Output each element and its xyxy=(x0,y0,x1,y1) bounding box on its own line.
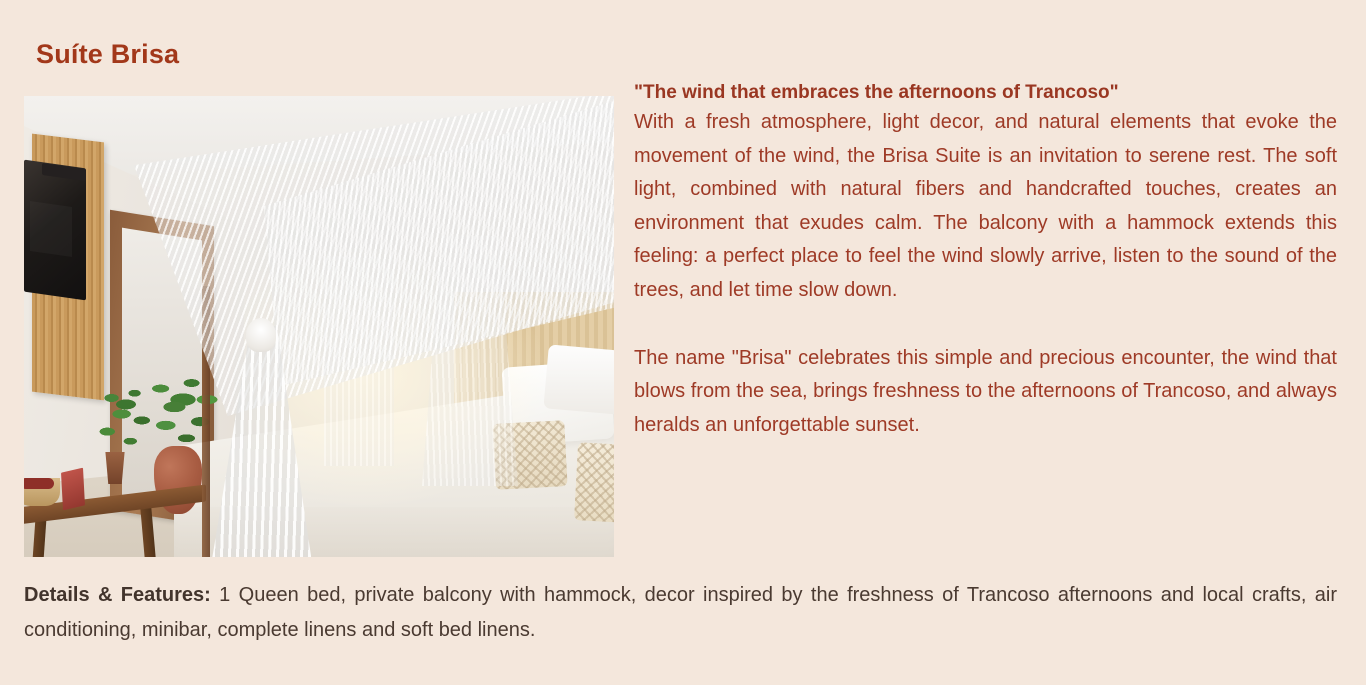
details-text: 1 Queen bed, private balcony with hammoc… xyxy=(24,584,1337,641)
description-paragraph-2: The name "Brisa" celebrates this simple … xyxy=(634,342,1337,443)
photo-basket-fruit xyxy=(24,478,54,489)
details-and-features: Details & Features: 1 Queen bed, private… xyxy=(24,578,1337,648)
room-photo xyxy=(24,96,614,557)
description-quote-heading: "The wind that embraces the afternoons o… xyxy=(634,80,1337,105)
room-description-page: Suíte Brisa xyxy=(0,0,1366,685)
photo-mosquito-net-knot xyxy=(246,318,276,352)
page-title: Suíte Brisa xyxy=(36,40,179,70)
paragraph-spacer xyxy=(634,308,1337,342)
details-label: Details & Features: xyxy=(24,584,211,606)
photo-red-decor-item xyxy=(61,468,85,511)
photo-knit-cushion xyxy=(574,442,614,524)
description-paragraph-1: With a fresh atmosphere, light decor, an… xyxy=(634,106,1337,308)
description-column: "The wind that embraces the afternoons o… xyxy=(634,80,1337,442)
photo-pillow xyxy=(543,344,614,415)
photo-tv-screen-reflection xyxy=(30,201,72,257)
